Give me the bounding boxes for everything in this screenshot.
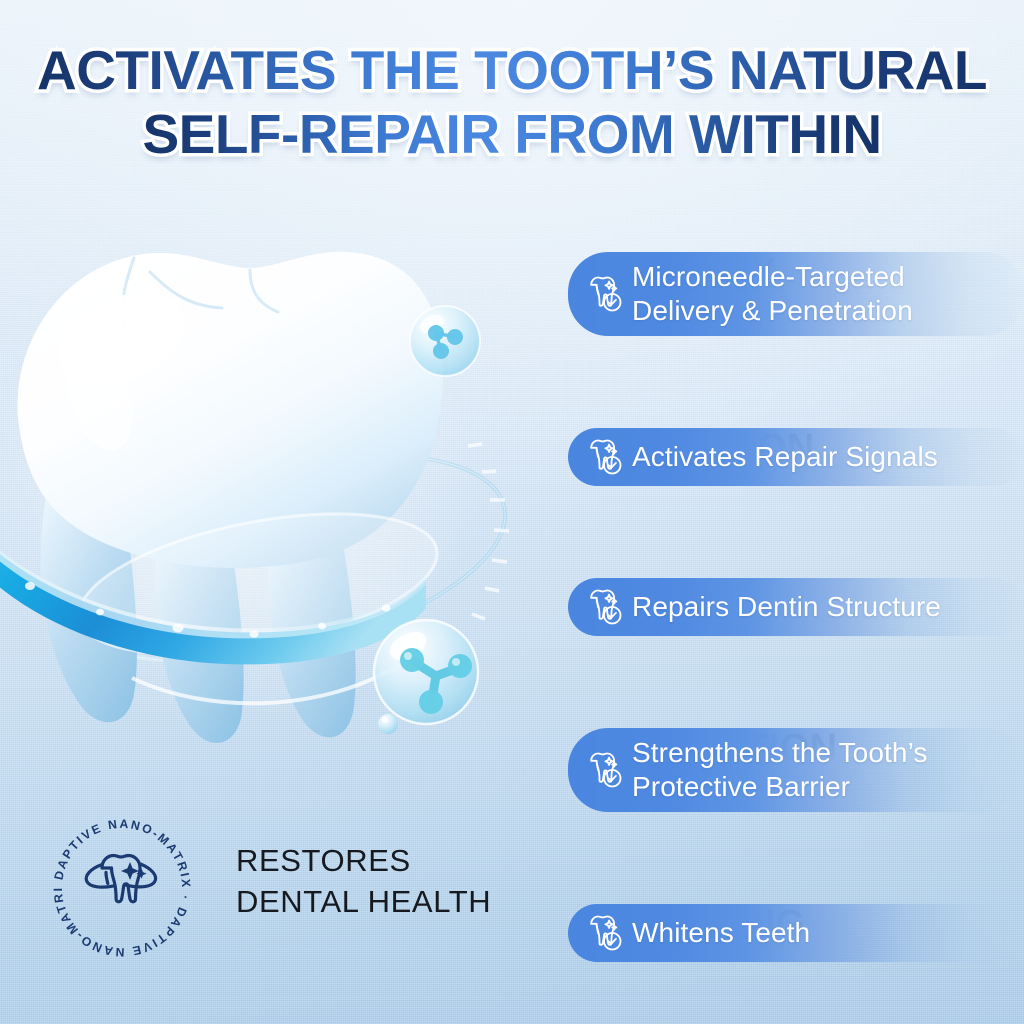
title-line-1-fill: ACTIVATES THE TOOTH’S NATURAL: [37, 39, 987, 101]
feature-item-whitening[interactable]: WHITENING Whitens Teeth: [568, 904, 1024, 1014]
title-line-2-fill: SELF-REPAIR FROM WITHIN: [142, 103, 881, 165]
feature-label-line: Repairs Dentin Structure: [632, 590, 941, 624]
feature-list: DELIVERY Microneedle-Targeted Delivery &…: [568, 212, 1024, 1024]
feature-item-repair[interactable]: REPAIR Repairs Dentin Structure: [568, 578, 1024, 688]
poster-canvas: ACTIVATES THE TOOTH’S NATURAL ACTIVATES …: [0, 0, 1024, 1024]
feature-label-line: Strengthens the Tooth’s: [632, 736, 927, 770]
feature-label-repair: Repairs Dentin Structure: [632, 590, 941, 624]
feature-label-line: Delivery & Penetration: [632, 294, 913, 328]
tooth-illustration-svg: [0, 228, 542, 768]
feature-item-activation[interactable]: ACTIVATION Activates Repair Signals: [568, 428, 1024, 538]
molecule-bubble-large: [374, 620, 478, 724]
title-line-1: ACTIVATES THE TOOTH’S NATURAL ACTIVATES …: [0, 38, 1024, 102]
tooth-check-icon: [582, 585, 626, 629]
tooth-illustration: [0, 228, 542, 768]
tooth-check-icon: [582, 435, 626, 479]
feature-pill-activation[interactable]: Activates Repair Signals: [568, 428, 1024, 486]
tagline: RESTORES DENTAL HEALTH: [236, 840, 491, 922]
tooth-check-icon: [582, 748, 626, 792]
feature-label-line: Activates Repair Signals: [632, 440, 938, 474]
brand-badge: DAPTIVE NANO-MATRIX · DAPTIVE NANO-MATRI…: [46, 812, 198, 964]
title-line-2: SELF-REPAIR FROM WITHIN SELF-REPAIR FROM…: [0, 102, 1024, 166]
page-title: ACTIVATES THE TOOTH’S NATURAL ACTIVATES …: [0, 38, 1024, 166]
feature-label-delivery: Microneedle-Targeted Delivery & Penetrat…: [632, 260, 913, 328]
feature-label-line: Microneedle-Targeted: [632, 260, 913, 294]
feature-label-whitening: Whitens Teeth: [632, 916, 810, 950]
feature-label-line: Whitens Teeth: [632, 916, 810, 950]
feature-label-line: Protective Barrier: [632, 770, 927, 804]
feature-label-activation: Activates Repair Signals: [632, 440, 938, 474]
tooth-check-icon: [582, 911, 626, 955]
tooth-orbit-sparkle-icon: [86, 856, 155, 902]
tagline-line-2: DENTAL HEALTH: [236, 881, 491, 922]
feature-pill-delivery[interactable]: Microneedle-Targeted Delivery & Penetrat…: [568, 252, 1024, 336]
badge-ring-text: DAPTIVE NANO-MATRIX · DAPTIVE NANO-MATRI…: [46, 812, 193, 959]
brand-badge-svg: DAPTIVE NANO-MATRIX · DAPTIVE NANO-MATRI…: [46, 812, 198, 964]
droplet-dot: [378, 714, 398, 734]
feature-pill-repair[interactable]: Repairs Dentin Structure: [568, 578, 1024, 636]
tooth-check-icon: [582, 272, 626, 316]
feature-label-protection: Strengthens the Tooth’s Protective Barri…: [632, 736, 927, 804]
feature-item-protection[interactable]: PROTECTION Strengthens the Tooth’s Prote…: [568, 728, 1024, 864]
feature-item-delivery[interactable]: DELIVERY Microneedle-Targeted Delivery &…: [568, 252, 1024, 388]
feature-pill-whitening[interactable]: Whitens Teeth: [568, 904, 1024, 962]
tagline-line-1: RESTORES: [236, 840, 491, 881]
feature-pill-protection[interactable]: Strengthens the Tooth’s Protective Barri…: [568, 728, 1024, 812]
